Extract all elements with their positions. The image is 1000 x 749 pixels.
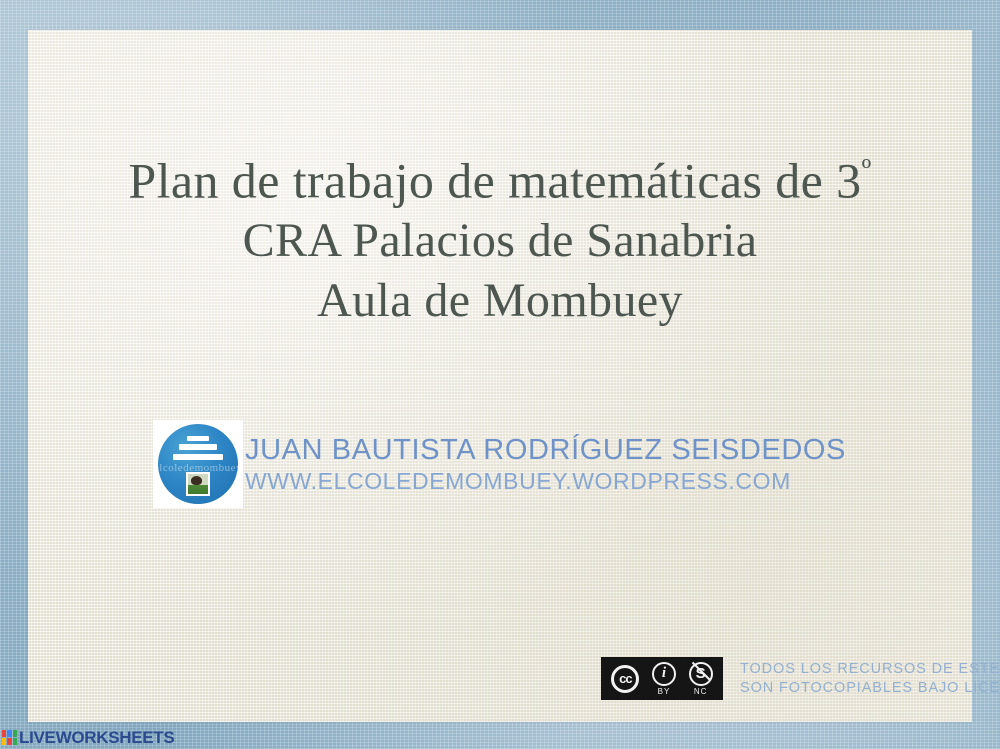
cc-by-glyph: i xyxy=(662,666,666,681)
cc-nc-item: S NC xyxy=(689,657,713,700)
logo-bar-middle xyxy=(179,444,217,450)
title-ordinal-marker: º xyxy=(862,152,872,187)
author-website-url[interactable]: WWW.ELCOLEDEMOMBUEY.WORDPRESS.COM xyxy=(245,467,846,495)
license-block: cc i BY S NC TODOS LOS RECURSOS DE ESTE … xyxy=(601,657,1000,700)
title-line-1-text: Plan de trabajo de matemáticas de 3 xyxy=(128,153,861,209)
cc-glyph: cc xyxy=(619,672,631,685)
author-credit-block: elcoledemombuey JUAN BAUTISTA RODRÍGUEZ … xyxy=(153,420,846,508)
author-name: JUAN BAUTISTA RODRÍGUEZ SEISDEDOS xyxy=(245,433,846,467)
creative-commons-badge-icon[interactable]: cc i BY S NC xyxy=(601,657,723,700)
cc-by-label: BY xyxy=(658,687,671,696)
page-title: Plan de trabajo de matemáticas de 3º CRA… xyxy=(0,140,1000,331)
logo-bar-top xyxy=(187,436,209,441)
slide-canvas: Plan de trabajo de matemáticas de 3º CRA… xyxy=(0,0,1000,749)
title-line-3: Aula de Mombuey xyxy=(0,271,1000,331)
cc-nc-label: NC xyxy=(694,687,708,696)
noncommercial-crossed-icon: S xyxy=(689,662,713,686)
attribution-person-icon: i xyxy=(652,662,676,686)
cc-logo-item: cc xyxy=(611,657,639,700)
liveworksheets-label: LIVEWORKSHEETS xyxy=(19,728,174,748)
liveworksheets-logo-icon xyxy=(2,730,17,745)
cc-by-item: i BY xyxy=(652,657,676,700)
logo-bar-bottom xyxy=(173,454,223,460)
blog-logo-icon: elcoledemombuey xyxy=(153,420,243,508)
logo-photo-thumbnail xyxy=(186,472,210,496)
slide-paper-background xyxy=(28,30,972,722)
author-text-group: JUAN BAUTISTA RODRÍGUEZ SEISDEDOS WWW.EL… xyxy=(245,433,846,495)
title-line-2: CRA Palacios de Sanabria xyxy=(0,211,1000,271)
license-text-line-2: SON FOTOCOPIABLES BAJO LICENCIA xyxy=(740,679,1000,698)
liveworksheets-watermark[interactable]: LIVEWORKSHEETS xyxy=(0,726,174,749)
license-text-line-1: TODOS LOS RECURSOS DE ESTE BLOG xyxy=(740,660,1000,679)
cc-circle-icon: cc xyxy=(611,665,639,693)
license-text-group: TODOS LOS RECURSOS DE ESTE BLOG SON FOTO… xyxy=(740,660,1000,698)
title-line-1: Plan de trabajo de matemáticas de 3º xyxy=(0,140,1000,211)
